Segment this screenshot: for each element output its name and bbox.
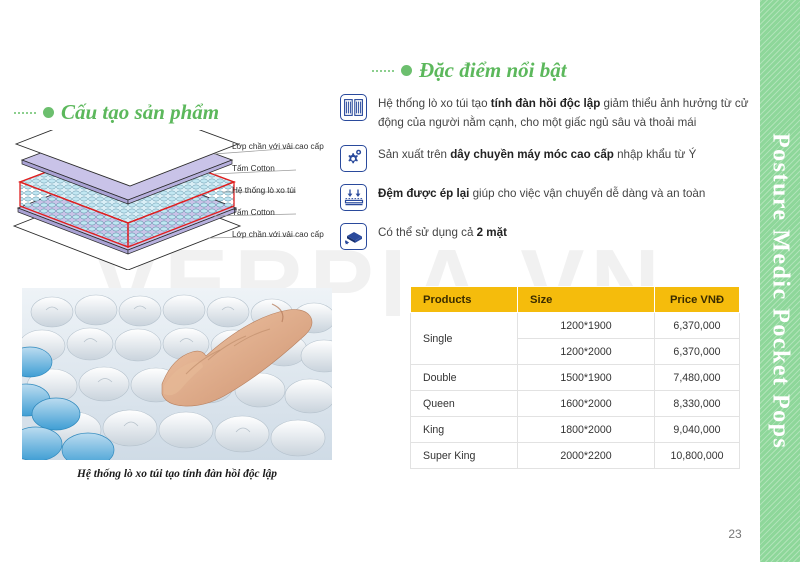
cell-price: 7,480,000 (655, 365, 740, 391)
column-header-price: Price VNĐ (655, 287, 740, 313)
cell-price: 10,800,000 (655, 443, 740, 469)
section-header-structure: Cấu tạo sản phẩm (14, 100, 219, 125)
side-band-title: Posture Medic Pocket Pops (760, 0, 800, 562)
table-row: Single 1200*1900 6,370,000 (411, 313, 740, 339)
cell-size: 1500*1900 (518, 365, 655, 391)
bullet-dot-icon (401, 65, 412, 76)
diagram-label-top-cotton: Tấm Cotton (232, 164, 275, 173)
cell-size: 1800*2000 (518, 417, 655, 443)
double-sided-mattress-icon (340, 223, 367, 250)
cell-price: 6,370,000 (655, 339, 740, 365)
feature-item: Đệm được ép lại giúp cho việc vận chuyển… (340, 184, 760, 211)
section-header-features: Đặc điểm nổi bật (372, 58, 567, 83)
cell-size: 1200*2000 (518, 339, 655, 365)
diagram-label-bottom-cotton: Tấm Cotton (232, 208, 275, 217)
section-title-structure: Cấu tạo sản phẩm (61, 100, 219, 125)
exploded-mattress-svg (8, 130, 338, 270)
table-row: King 1800*2000 9,040,000 (411, 417, 740, 443)
table-header-row: Products Size Price VNĐ (411, 287, 740, 313)
pocket-spring-photo (22, 288, 332, 460)
pocket-spring-photo-svg (22, 288, 332, 460)
page-number: 23 (722, 527, 748, 541)
cell-product: Double (411, 365, 518, 391)
diagram-label-top-cover: Lớp chần với vải cao cấp (232, 142, 324, 151)
section-title-features: Đặc điểm nổi bật (419, 58, 567, 83)
feature-text: Hệ thống lò xo túi tạo tính đàn hồi độc … (378, 94, 760, 133)
feature-item: Sản xuất trên dây chuyền máy móc cao cấp… (340, 145, 760, 172)
price-table: Products Size Price VNĐ Single 1200*1900… (410, 286, 740, 469)
feature-item: Hệ thống lò xo túi tạo tính đàn hồi độc … (340, 94, 760, 133)
cell-price: 8,330,000 (655, 391, 740, 417)
diagram-label-spring-unit: Hệ thống lò xo túi (232, 186, 296, 195)
table-row: Double 1500*1900 7,480,000 (411, 365, 740, 391)
cell-product: Super King (411, 443, 518, 469)
cell-size: 2000*2200 (518, 443, 655, 469)
gear-icon (340, 145, 367, 172)
feature-item: Có thể sử dụng cả 2 mặt (340, 223, 760, 250)
features-list: Hệ thống lò xo túi tạo tính đàn hồi độc … (340, 94, 760, 262)
cell-price: 9,040,000 (655, 417, 740, 443)
leader-dots (372, 70, 394, 72)
compression-arrows-icon (340, 184, 367, 211)
cell-size: 1600*2000 (518, 391, 655, 417)
brochure-page: VERPIA.VN Cấu tạo sản phẩm (0, 0, 800, 562)
photo-caption: Hệ thống lò xo túi tạo tính đàn hồi độc … (22, 468, 332, 480)
mattress-layer-diagram: Lớp chần với vải cao cấp Tấm Cotton Hệ t… (8, 130, 338, 270)
cell-product: Single (411, 313, 518, 365)
leader-dots (14, 112, 36, 114)
cell-price: 6,370,000 (655, 313, 740, 339)
column-header-products: Products (411, 287, 518, 313)
table-row: Queen 1600*2000 8,330,000 (411, 391, 740, 417)
feature-text: Có thể sử dụng cả 2 mặt (378, 223, 507, 243)
diagram-label-bottom-cover: Lớp chần với vải cao cấp (232, 230, 324, 239)
bullet-dot-icon (43, 107, 54, 118)
feature-text: Đệm được ép lại giúp cho việc vận chuyển… (378, 184, 705, 204)
cell-product: Queen (411, 391, 518, 417)
feature-text: Sản xuất trên dây chuyền máy móc cao cấp… (378, 145, 696, 165)
column-header-size: Size (518, 287, 655, 313)
side-band-title-text: Posture Medic Pocket Pops (767, 133, 794, 449)
pocket-spring-icon (340, 94, 367, 121)
table-row: Super King 2000*2200 10,800,000 (411, 443, 740, 469)
cell-product: King (411, 417, 518, 443)
cell-size: 1200*1900 (518, 313, 655, 339)
